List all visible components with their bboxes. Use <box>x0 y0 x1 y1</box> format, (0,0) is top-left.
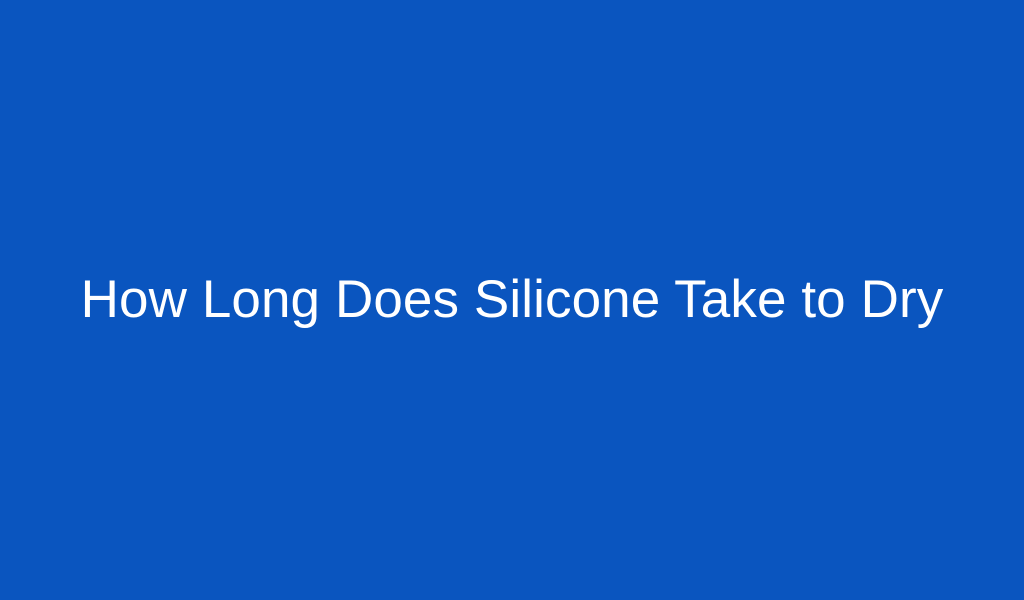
hero-banner: How Long Does Silicone Take to Dry <box>0 0 1024 600</box>
page-title: How Long Does Silicone Take to Dry <box>81 270 944 331</box>
hero-banner-content: How Long Does Silicone Take to Dry <box>0 270 1024 331</box>
